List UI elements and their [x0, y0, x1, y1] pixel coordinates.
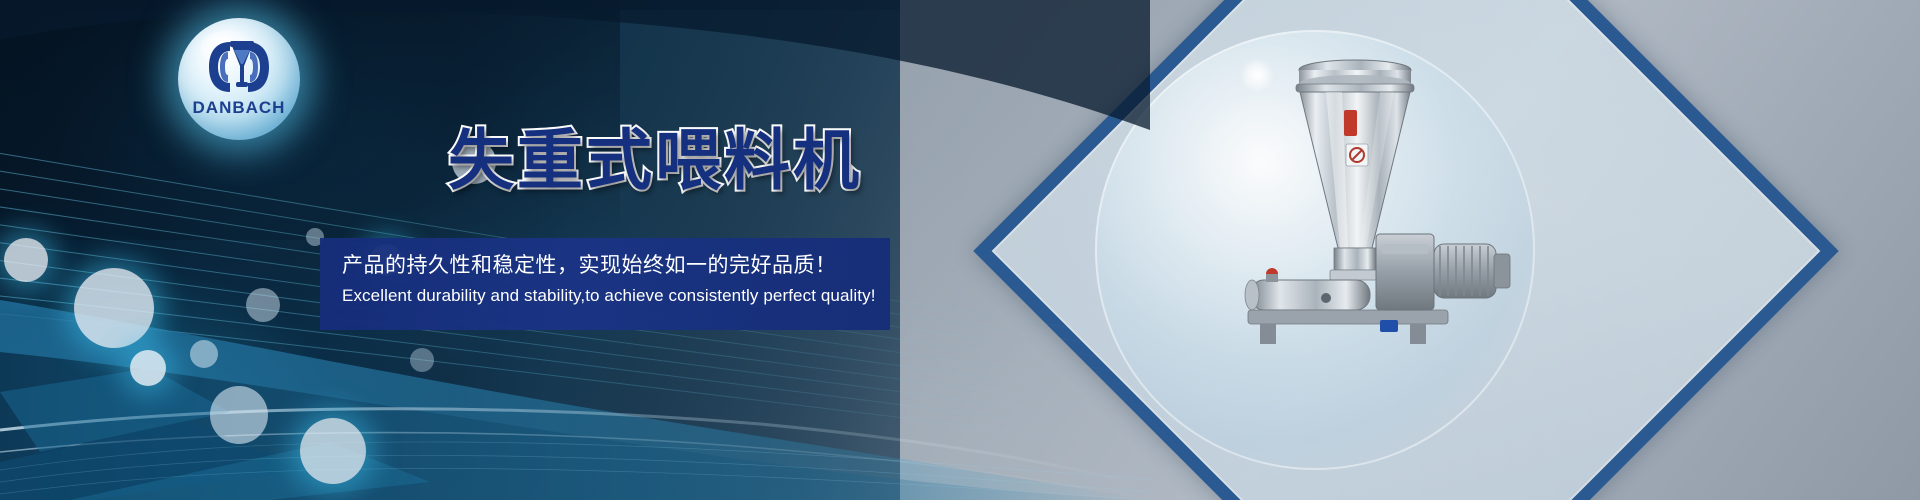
caption-chinese: 产品的持久性和稳定性，实现始终如一的完好品质！: [342, 250, 868, 282]
page-title: 失重式喂料机: [448, 125, 862, 195]
brand-logo[interactable]: DANBACH: [178, 18, 300, 140]
caption-english: Excellent durability and stability,to ac…: [342, 282, 868, 310]
danbach-monogram-icon: [206, 38, 272, 96]
bokeh-circle: [4, 238, 48, 282]
bokeh-circle: [410, 348, 434, 372]
product-banner: DANBACH 失重式喂料机 产品的持久性和稳定性，实现始终如一的完好品质！ E…: [0, 0, 1920, 500]
bokeh-circle: [210, 386, 268, 444]
bokeh-circle: [74, 268, 154, 348]
caption-panel: 产品的持久性和稳定性，实现始终如一的完好品质！ Excellent durabi…: [320, 238, 890, 330]
bokeh-circle: [190, 340, 218, 368]
bokeh-circle: [246, 288, 280, 322]
bokeh-circle: [130, 350, 166, 386]
loss-in-weight-feeder-photo: [1230, 48, 1550, 358]
bokeh-circle: [300, 418, 366, 484]
brand-logo-text: DANBACH: [178, 98, 300, 118]
